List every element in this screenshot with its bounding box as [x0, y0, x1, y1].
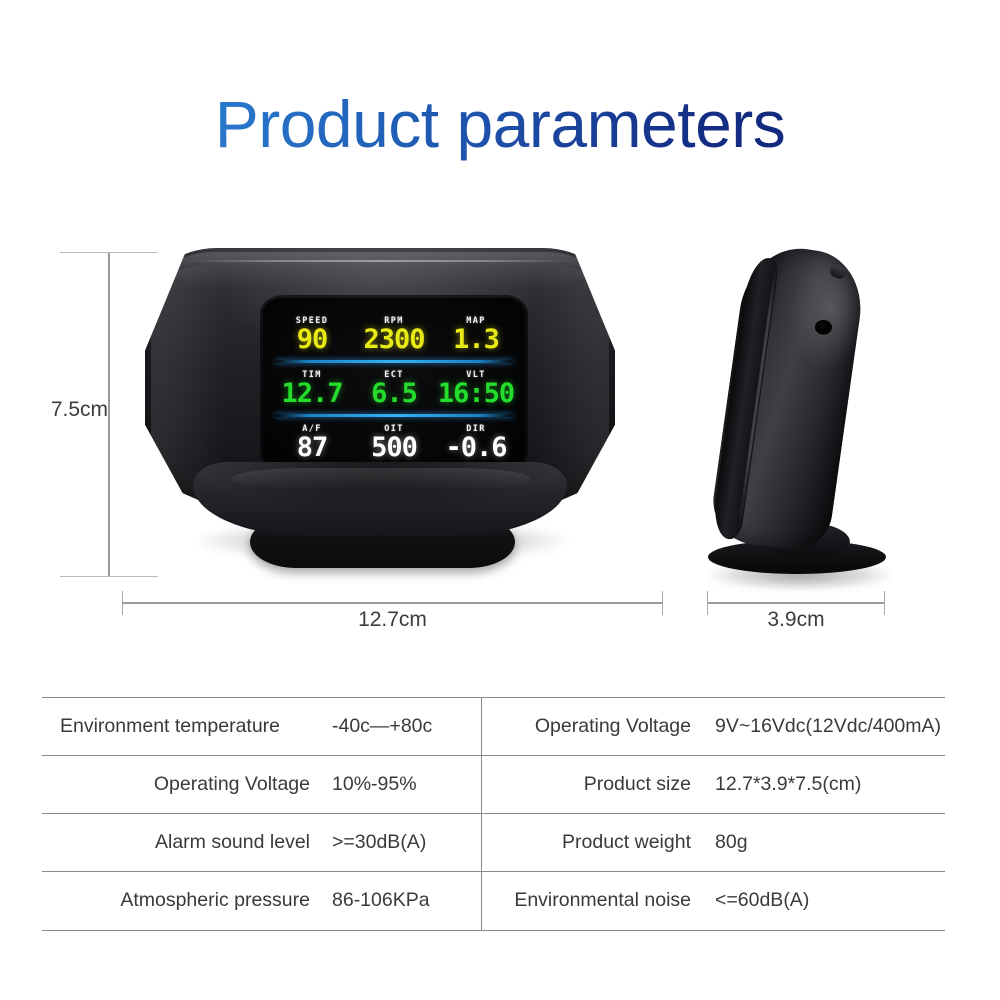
spec-value: 9V~16Vdc(12Vdc/400mA) [691, 715, 945, 738]
spec-label: Environmental noise [501, 889, 691, 912]
display-value-oit: 500 [371, 434, 417, 461]
product-parameters-page: Product parameters 7.5cm SPEED [0, 0, 1000, 1000]
display-value-map: 1.3 [453, 326, 499, 353]
width-dimension-line [122, 602, 663, 604]
table-row: Atmospheric pressure 86-106KPa Environme… [42, 871, 945, 929]
height-dimension-line [108, 252, 110, 577]
spec-pair-left: Alarm sound level >=30dB(A) [42, 813, 481, 871]
hud-front-view: SPEED 90 RPM 2300 MAP 1.3 [145, 248, 615, 593]
hud-screen: SPEED 90 RPM 2300 MAP 1.3 [263, 298, 525, 476]
display-value-ect: 6.5 [371, 380, 417, 407]
spec-label: Operating Voltage [501, 715, 691, 738]
spec-pair-right: Product size 12.7*3.9*7.5(cm) [481, 755, 945, 813]
display-cell-rpm: RPM 2300 [353, 308, 435, 362]
display-value-vlt: 16:50 [438, 380, 514, 407]
spec-pair-left: Environment temperature -40c—+80c [42, 697, 481, 755]
display-value-speed: 90 [297, 326, 328, 353]
display-cell-tim: TIM 12.7 [271, 362, 353, 416]
spec-pair-right: Product weight 80g [481, 813, 945, 871]
spec-pair-right: Environmental noise <=60dB(A) [481, 871, 945, 929]
unit-rim-seam [189, 260, 571, 262]
table-row: Alarm sound level >=30dB(A) Product weig… [42, 813, 945, 871]
hud-side-view [700, 244, 900, 594]
spec-rows: Environment temperature -40c—+80c Operat… [42, 697, 945, 931]
display-row-2: TIM 12.7 ECT 6.5 VLT 16:50 [271, 362, 517, 416]
width-dimension-label: 12.7cm [122, 608, 663, 632]
spec-value: <=60dB(A) [691, 889, 945, 912]
spec-label: Product weight [501, 831, 691, 854]
display-row-1: SPEED 90 RPM 2300 MAP 1.3 [271, 308, 517, 362]
spec-label: Environment temperature [42, 715, 310, 738]
spec-value: 80g [691, 831, 945, 854]
spec-table: Environment temperature -40c—+80c Operat… [42, 697, 945, 931]
spec-label: Product size [501, 773, 691, 796]
table-row: Environment temperature -40c—+80c Operat… [42, 697, 945, 755]
spec-value: 10%-95% [310, 773, 460, 796]
spec-value: >=30dB(A) [310, 831, 460, 854]
table-row: Operating Voltage 10%-95% Product size 1… [42, 755, 945, 813]
spec-label: Operating Voltage [42, 773, 310, 796]
display-value-rpm: 2300 [363, 326, 424, 353]
depth-dimension-label: 3.9cm [707, 608, 885, 632]
spec-pair-left: Operating Voltage 10%-95% [42, 755, 481, 813]
page-title: Product parameters [0, 86, 1000, 162]
spec-pair-right: Operating Voltage 9V~16Vdc(12Vdc/400mA) [481, 697, 945, 755]
spec-value: 86-106KPa [310, 889, 460, 912]
unit-lip-gloss [231, 468, 531, 490]
spec-label: Alarm sound level [42, 831, 310, 854]
spec-pair-left: Atmospheric pressure 86-106KPa [42, 871, 481, 929]
display-cell-vlt: VLT 16:50 [435, 362, 517, 416]
product-illustration: 7.5cm SPEED 90 [0, 230, 1000, 650]
depth-dimension-line [707, 602, 885, 604]
unit-top-rim-highlight [173, 252, 587, 288]
spec-label: Atmospheric pressure [42, 889, 310, 912]
display-value-tim: 12.7 [281, 380, 342, 407]
display-cell-ect: ECT 6.5 [353, 362, 435, 416]
hud-screen-bezel: SPEED 90 RPM 2300 MAP 1.3 [263, 298, 525, 476]
spec-value: -40c—+80c [310, 715, 460, 738]
display-cell-speed: SPEED 90 [271, 308, 353, 362]
spec-value: 12.7*3.9*7.5(cm) [691, 773, 945, 796]
display-value-af: 87 [297, 434, 328, 461]
display-cell-map: MAP 1.3 [435, 308, 517, 362]
height-dimension-label: 7.5cm [42, 398, 108, 422]
display-value-dir: -0.6 [445, 434, 506, 461]
